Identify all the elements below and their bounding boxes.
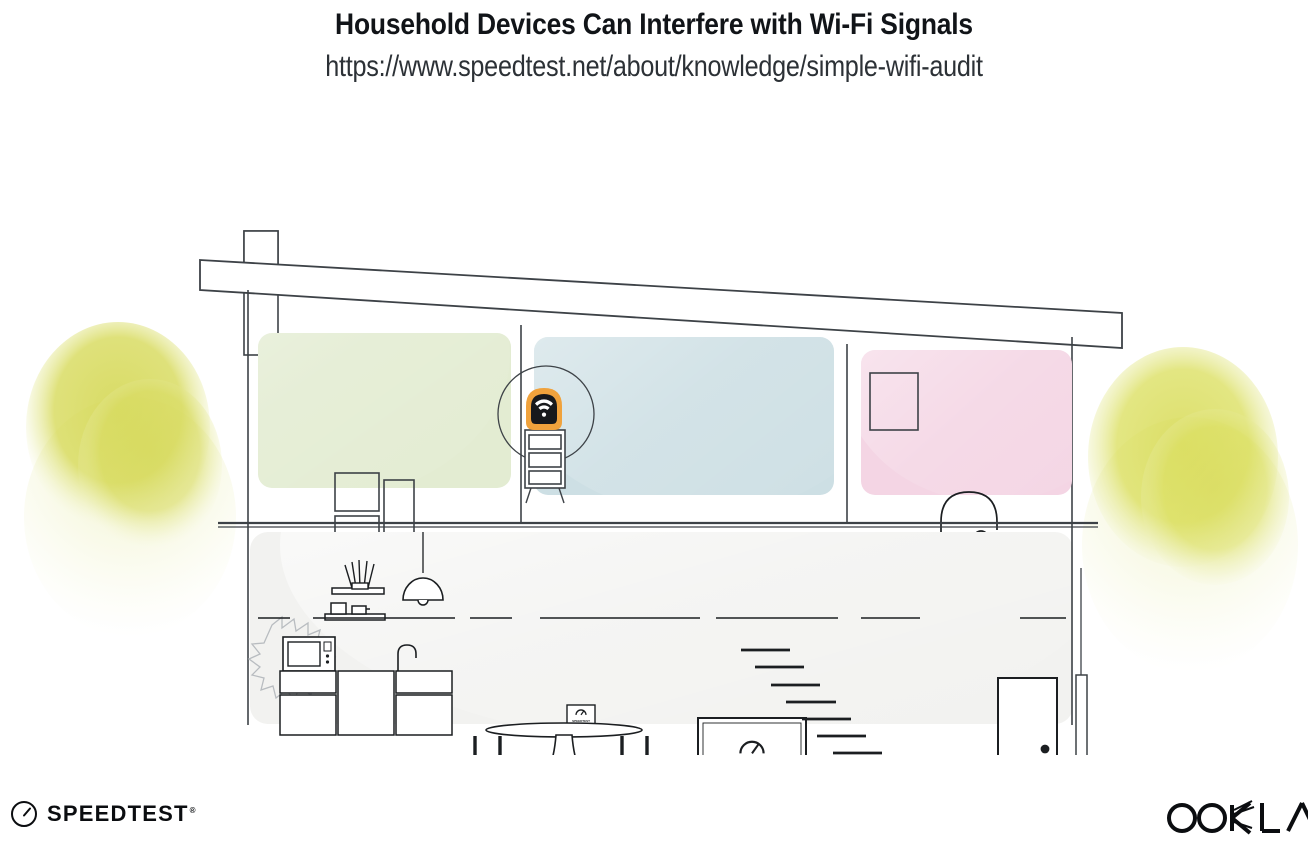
television: SPEEDTEST (698, 718, 806, 755)
dining-chair-left (473, 736, 502, 755)
infographic-canvas: Household Devices Can Interfere with Wi-… (0, 0, 1308, 861)
foliage-right (1082, 347, 1298, 673)
dining-table (486, 723, 642, 755)
floor-slab-upper (218, 523, 1098, 527)
header: Household Devices Can Interfere with Wi-… (0, 0, 1308, 84)
door-knob-icon (1041, 745, 1050, 754)
front-door[interactable] (998, 678, 1057, 755)
speedtest-logo: SPEEDTEST® (10, 800, 197, 828)
dining-chair-right (620, 736, 649, 755)
ookla-wordmark-icon (1164, 800, 1308, 836)
wifi-router[interactable] (526, 388, 562, 430)
sidelight-window (1076, 568, 1087, 755)
trademark-symbol: ® (190, 806, 197, 815)
house-cutaway-svg: SPEEDTEST (0, 105, 1308, 755)
speedtest-wordmark: SPEEDTEST® (47, 801, 197, 827)
house-illustration: SPEEDTEST (0, 105, 1308, 755)
foliage-left (24, 322, 236, 637)
speedtest-wordmark-text: SPEEDTEST (47, 801, 189, 826)
ookla-logo (1164, 800, 1308, 836)
source-url: https://www.speedtest.net/about/knowledg… (105, 42, 1204, 84)
page-title: Household Devices Can Interfere with Wi-… (78, 0, 1229, 42)
footer: SPEEDTEST® (0, 780, 1308, 861)
speedtest-gauge-icon (10, 800, 38, 828)
